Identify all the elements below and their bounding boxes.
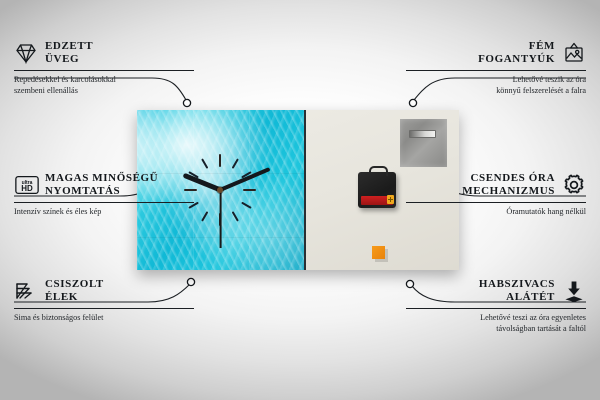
second-hand — [220, 190, 222, 248]
foam-pad-icon — [562, 279, 586, 303]
feature-desc: Sima és biztonságos felület — [14, 312, 194, 323]
feature-desc: Lehetővé teszik az óra könnyű felszerelé… — [406, 74, 586, 96]
feature-title: CSENDES ÓRA MECHANIZMUS — [462, 172, 555, 198]
divider — [406, 70, 586, 71]
wire-dot-tempered-glass — [183, 99, 190, 106]
gear-icon — [562, 173, 586, 197]
divider — [14, 308, 194, 309]
mechanism-hanging-loop — [369, 166, 388, 176]
feature-desc: Intenzív színek és éles kép — [14, 206, 194, 217]
metal-handle-plate — [400, 119, 447, 167]
feature-desc: Repedésekkel és karcolásokkal szembeni e… — [14, 74, 194, 96]
divider — [406, 202, 586, 203]
feature-quiet-mechanism: CSENDES ÓRA MECHANIZMUS Óramutatók hang … — [406, 172, 586, 217]
divider — [14, 70, 194, 71]
picture-hanger-icon — [562, 41, 586, 65]
clock-mechanism — [358, 172, 396, 208]
battery — [361, 196, 393, 205]
feature-desc: Óramutatók hang nélkül — [406, 206, 586, 217]
polished-edges-icon — [14, 279, 38, 303]
feature-metal-handles: FÉM FOGANTYÚK Lehetővé teszik az óra kön… — [406, 40, 586, 96]
feature-desc: Lehetővé teszi az óra egyenletes távolsá… — [406, 312, 586, 334]
handle-slot — [409, 130, 436, 138]
foam-pad — [372, 246, 385, 259]
divider — [406, 308, 586, 309]
feature-high-quality-print: ultra HD MAGAS MINŐSÉGŰ NYOMTATÁS Intenz… — [14, 172, 194, 217]
infographic-canvas: EDZETT ÜVEG Repedésekkel és karcolásokka… — [0, 0, 600, 400]
feature-tempered-glass: EDZETT ÜVEG Repedésekkel és karcolásokka… — [14, 40, 194, 96]
feature-title: CSISZOLT ÉLEK — [45, 278, 104, 304]
feature-foam-backing: HABSZIVACS ALÁTÉT Lehetővé teszi az óra … — [406, 278, 586, 334]
diamond-icon — [14, 41, 38, 65]
feature-title: MAGAS MINŐSÉGŰ NYOMTATÁS — [45, 172, 158, 198]
feature-title: FÉM FOGANTYÚK — [478, 40, 555, 66]
battery-plus-terminal — [387, 195, 394, 204]
svg-text:HD: HD — [21, 184, 33, 193]
divider — [14, 202, 194, 203]
feature-title: EDZETT ÜVEG — [45, 40, 93, 66]
feature-title: HABSZIVACS ALÁTÉT — [479, 278, 555, 304]
ultra-hd-icon: ultra HD — [14, 173, 38, 197]
wire-dot-metal-handles — [409, 99, 416, 106]
feature-polished-edges: CSISZOLT ÉLEK Sima és biztonságos felüle… — [14, 278, 194, 323]
